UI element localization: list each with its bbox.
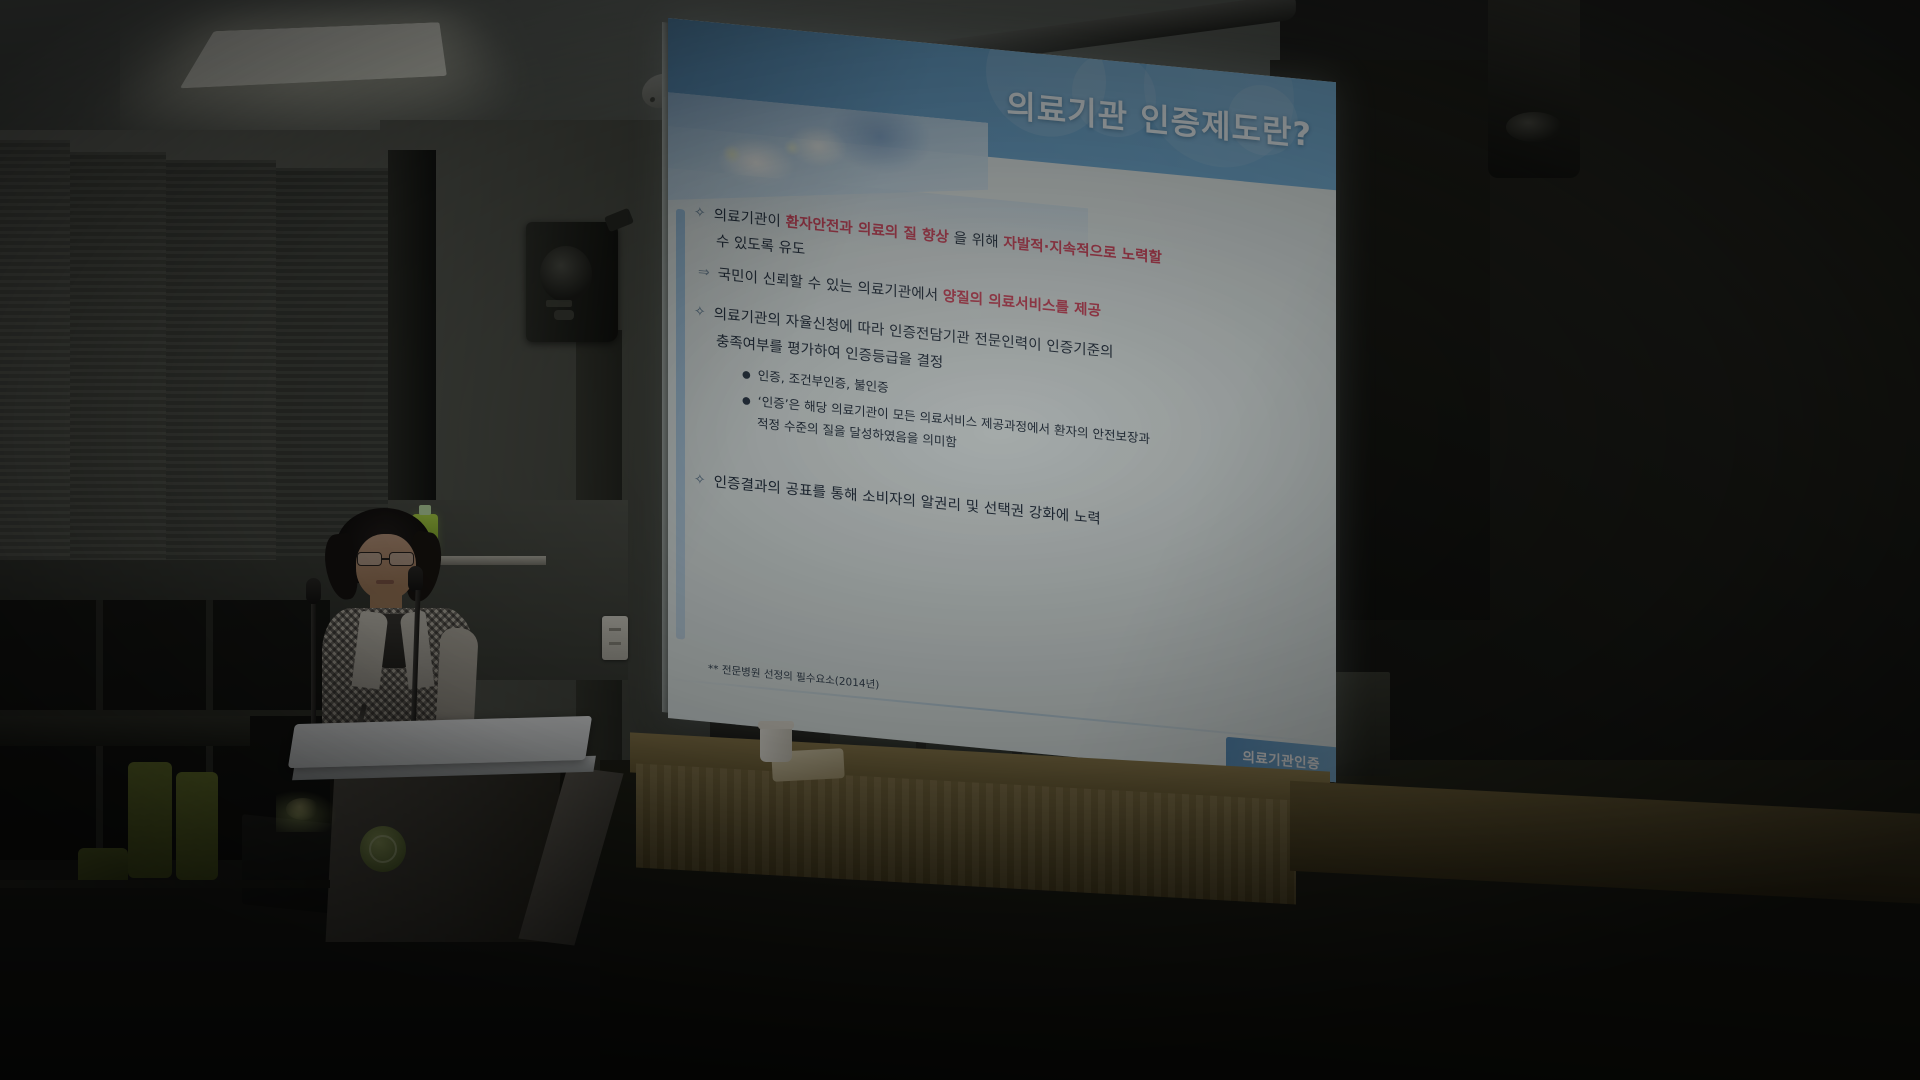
presenter-glasses bbox=[356, 552, 418, 567]
arrow-text-part: 국민이 신뢰할 수 있는 의료기관에서 bbox=[718, 267, 943, 305]
floor-rail bbox=[0, 880, 330, 888]
paper-cup bbox=[760, 726, 792, 762]
flower-arrangement bbox=[276, 790, 338, 832]
speaker-tweeter-icon bbox=[554, 310, 574, 320]
microphone-head-icon bbox=[306, 578, 321, 604]
room-scene: 의료기관 인증제도란? ✧ 의료기관이 환자안전과 의료의 질 향상 을 위해 … bbox=[0, 0, 1920, 1080]
screw-icon bbox=[650, 97, 655, 103]
sub-bullet-dot-icon: ● bbox=[742, 391, 751, 411]
window-blind bbox=[166, 160, 276, 602]
stacked-chair bbox=[176, 772, 218, 880]
bullet-marker-icon: ✧ bbox=[694, 302, 706, 323]
sub-bullet-dot-icon: ● bbox=[742, 365, 751, 385]
presenter-mouth bbox=[376, 580, 394, 584]
slide-accent-bar bbox=[676, 209, 685, 640]
speaker-cone-icon bbox=[540, 246, 592, 302]
arrow-marker-icon: ⇒ bbox=[698, 262, 710, 286]
presentation-slide: 의료기관 인증제도란? ✧ 의료기관이 환자안전과 의료의 질 향상 을 위해 … bbox=[668, 18, 1336, 782]
wall-outlet[interactable] bbox=[602, 616, 628, 660]
window-blind bbox=[0, 140, 70, 610]
bullet-marker-icon: ✧ bbox=[694, 470, 706, 491]
window-blind bbox=[70, 152, 166, 604]
microphone-head-icon bbox=[408, 566, 423, 592]
bullet-marker-icon: ✧ bbox=[694, 203, 706, 224]
presenter-face bbox=[356, 534, 416, 600]
bullet-text-part: 의료기관이 bbox=[714, 207, 786, 230]
bench bbox=[0, 716, 250, 746]
wall-speaker-left bbox=[526, 222, 618, 342]
wall-speaker-right bbox=[1488, 0, 1580, 178]
lectern-emblem bbox=[360, 826, 406, 872]
slide-body: ✧ 의료기관이 환자안전과 의료의 질 향상 을 위해 자발적·지속적으로 노력… bbox=[694, 197, 1320, 557]
speaker-cone-icon bbox=[1506, 112, 1562, 142]
projection-screen[interactable]: 의료기관 인증제도란? ✧ 의료기관이 환자안전과 의료의 질 향상 을 위해 … bbox=[668, 18, 1336, 782]
stacked-chair bbox=[128, 762, 172, 878]
microphone-stand bbox=[311, 604, 316, 742]
arrow-highlight: 양질의 의료서비스를 제공 bbox=[943, 288, 1101, 319]
sub-bullet-text: 인증, 조건부인증, 불인증 bbox=[758, 367, 889, 399]
bullet-text-part: 을 위해 bbox=[949, 230, 1003, 251]
wall-panel-right bbox=[1340, 60, 1490, 620]
lectern bbox=[242, 742, 598, 938]
cup-lid bbox=[758, 721, 794, 729]
draped-table bbox=[630, 752, 1330, 882]
speaker-brand-badge bbox=[546, 300, 572, 307]
lectern-desktop bbox=[288, 716, 592, 768]
